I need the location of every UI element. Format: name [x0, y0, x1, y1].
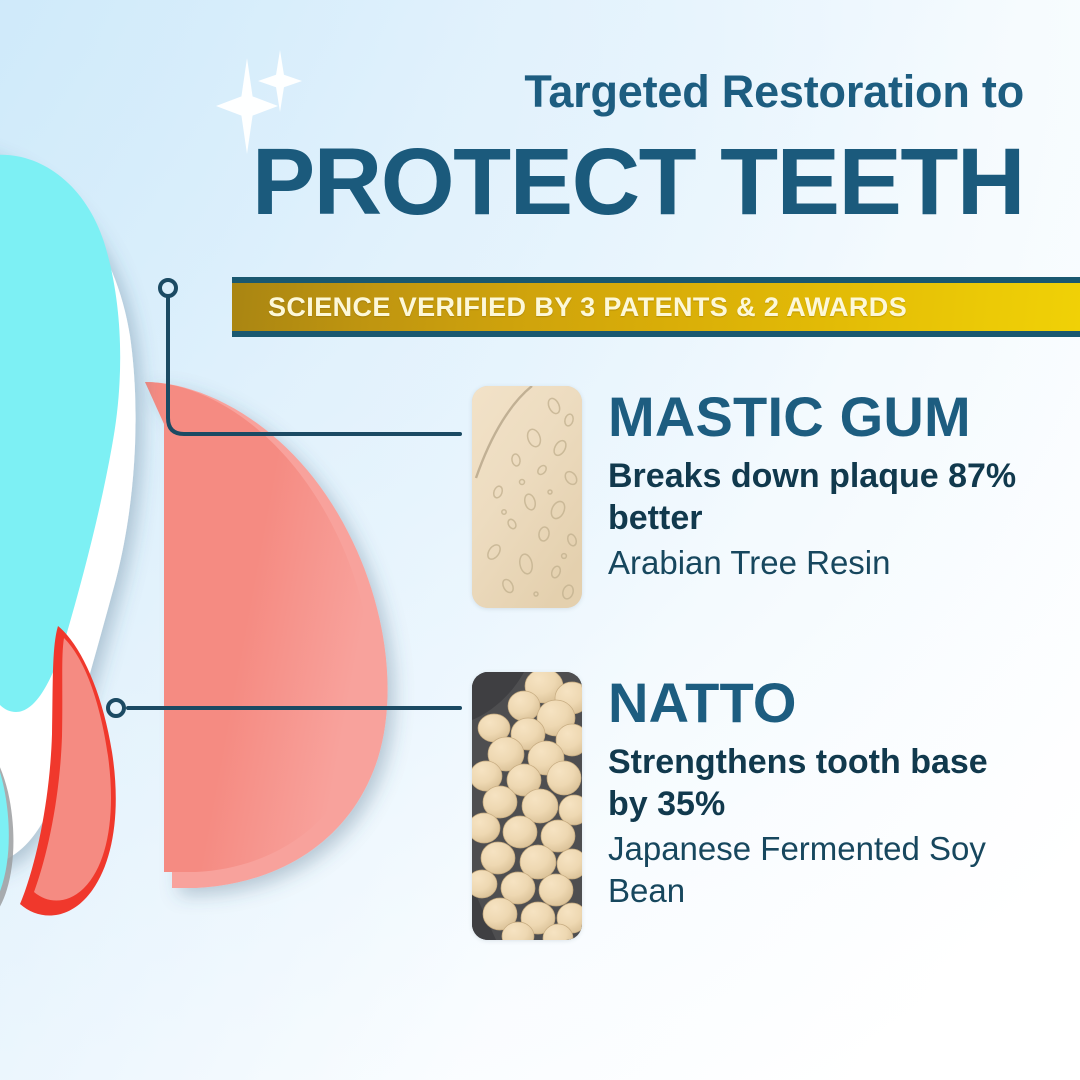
- ingredient-benefit-natto: Strengthens tooth base by 35%: [608, 741, 1028, 825]
- page-title: PROTECT TEETH: [0, 134, 1024, 231]
- ingredient-title-natto: NATTO: [608, 674, 1038, 731]
- mastic-gum-info: MASTIC GUM Breaks down plaque 87% better…: [608, 386, 1028, 584]
- soybean-photo: [472, 672, 582, 940]
- ingredient-title-mastic-gum: MASTIC GUM: [608, 388, 1028, 445]
- science-verified-banner: SCIENCE VERIFIED BY 3 PATENTS & 2 AWARDS: [232, 277, 1080, 337]
- ingredient-row-natto: NATTO Strengthens tooth base by 35% Japa…: [472, 672, 1038, 940]
- infographic-canvas: Targeted Restoration to PROTECT TEETH SC…: [0, 0, 1080, 1080]
- banner-text: SCIENCE VERIFIED BY 3 PATENTS & 2 AWARDS: [268, 292, 907, 323]
- ingredient-row-mastic-gum: MASTIC GUM Breaks down plaque 87% better…: [472, 386, 1028, 608]
- page-kicker: Targeted Restoration to: [0, 66, 1024, 118]
- ingredient-benefit-mastic-gum: Breaks down plaque 87% better: [608, 455, 1028, 539]
- natto-info: NATTO Strengthens tooth base by 35% Japa…: [608, 672, 1038, 912]
- ingredient-source-mastic-gum: Arabian Tree Resin: [608, 542, 1028, 584]
- mastic-resin-photo: [472, 386, 582, 608]
- tooth-and-gum-illustration: [0, 124, 432, 954]
- ingredient-source-natto: Japanese Fermented Soy Bean: [608, 828, 1038, 911]
